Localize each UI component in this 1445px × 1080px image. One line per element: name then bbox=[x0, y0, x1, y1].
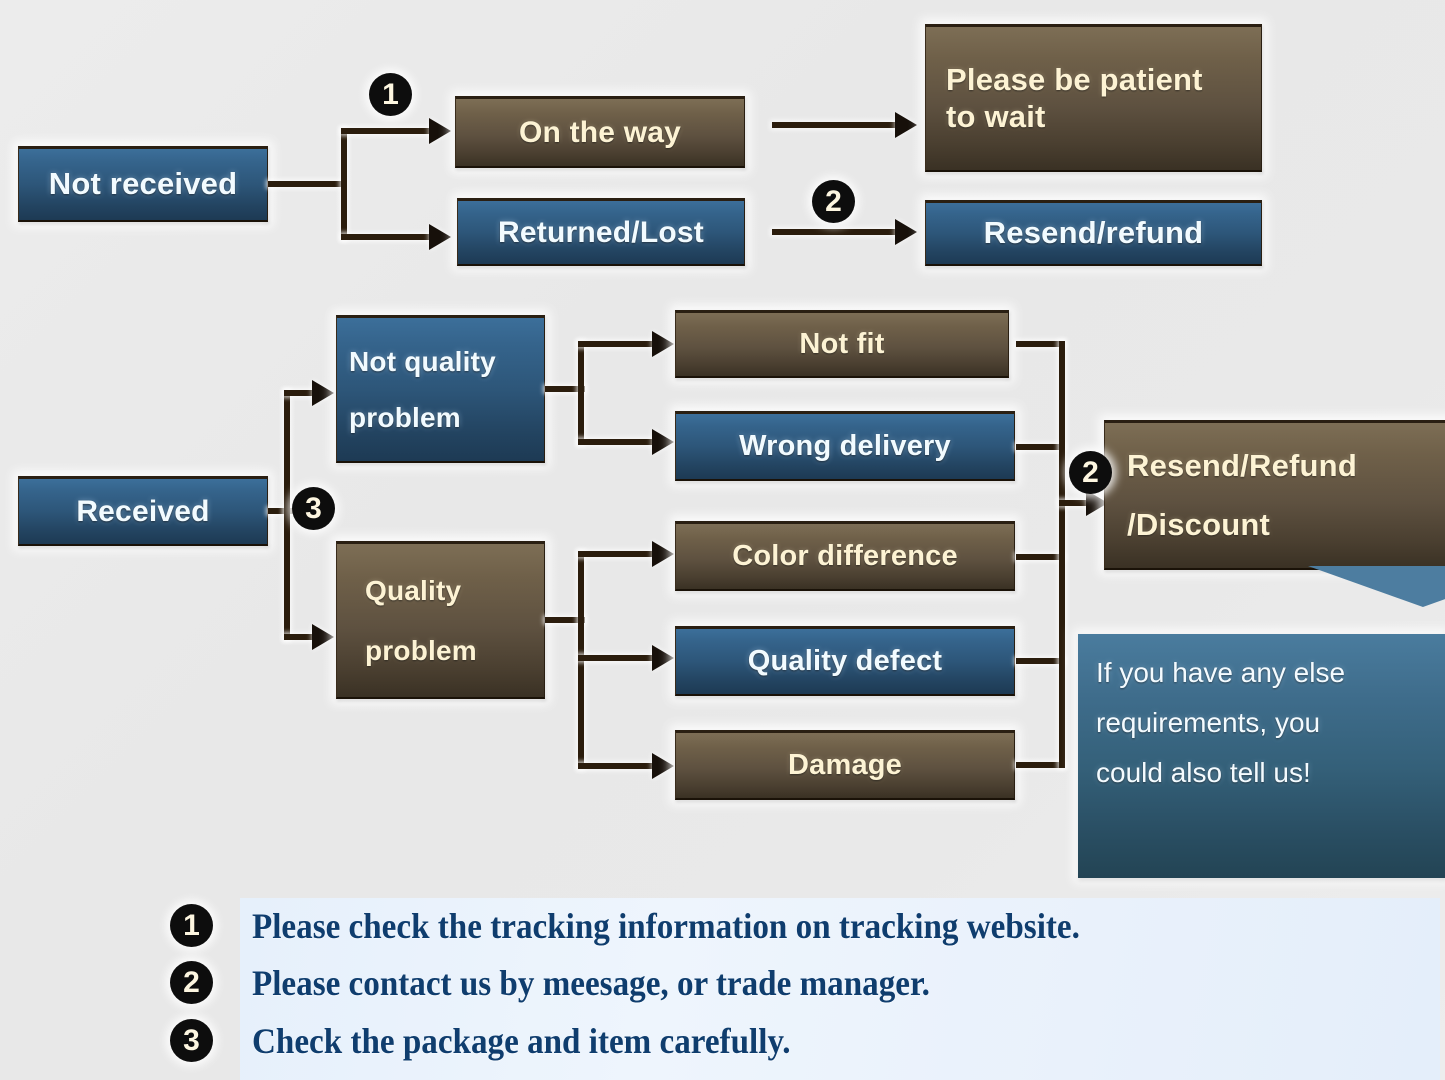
legend-badge-2-label: 2 bbox=[183, 966, 200, 1000]
connector-to-on-the-way bbox=[341, 128, 431, 134]
outcome-line-2: /Discount bbox=[1127, 507, 1445, 544]
legend-item-3: Check the package and item carefully. bbox=[252, 1018, 837, 1064]
merge-stub-wrong-delivery bbox=[1016, 444, 1064, 450]
node-on-the-way[interactable]: On the way bbox=[455, 96, 745, 168]
connector-not-received-bus bbox=[341, 128, 347, 240]
merge-bus-vertical bbox=[1059, 341, 1065, 768]
legend-item-1-text: Please check the tracking information on… bbox=[252, 905, 1080, 947]
badge-2-merge: 2 bbox=[1069, 451, 1112, 494]
badge-1-not-received-label: 1 bbox=[382, 78, 399, 112]
node-wrong-delivery-label: Wrong delivery bbox=[686, 429, 1004, 463]
legend-item-2: Please contact us by meesage, or trade m… bbox=[252, 960, 989, 1006]
node-returned-lost[interactable]: Returned/Lost bbox=[457, 198, 745, 266]
badge-2-resend-refund-label: 2 bbox=[825, 185, 842, 219]
connector-to-damage bbox=[578, 763, 656, 769]
legend-badge-3-label: 3 bbox=[183, 1024, 200, 1058]
node-not-received[interactable]: Not received bbox=[18, 146, 268, 222]
outcome-line-1: Resend/Refund bbox=[1127, 448, 1445, 485]
node-on-the-way-label: On the way bbox=[466, 115, 734, 150]
node-resend-refund[interactable]: Resend/refund bbox=[925, 200, 1262, 266]
legend-item-3-text: Check the package and item carefully. bbox=[252, 1020, 790, 1062]
arrowhead-to-returned-lost bbox=[429, 224, 451, 250]
connector-returned-to-resend bbox=[772, 229, 897, 235]
node-received[interactable]: Received bbox=[18, 476, 268, 546]
quality-line-2: problem bbox=[365, 634, 544, 667]
node-resend-refund-label: Resend/refund bbox=[936, 215, 1251, 252]
badge-3-received-label: 3 bbox=[305, 492, 322, 526]
node-please-be-patient-to-wait[interactable]: Please be patient to wait bbox=[925, 24, 1262, 172]
merge-stub-damage bbox=[1016, 762, 1064, 768]
node-quality-defect-label: Quality defect bbox=[686, 644, 1004, 678]
node-color-difference-label: Color difference bbox=[686, 539, 1004, 573]
badge-1-not-received: 1 bbox=[369, 73, 412, 116]
merge-stub-color-difference bbox=[1016, 554, 1064, 560]
arrowhead-to-quality-problem bbox=[312, 624, 334, 650]
node-not-quality-problem[interactable]: Not quality problem bbox=[336, 315, 545, 463]
node-quality-defect[interactable]: Quality defect bbox=[675, 626, 1015, 696]
legend-badge-2: 2 bbox=[170, 961, 213, 1004]
arrowhead-to-damage bbox=[652, 753, 674, 779]
node-please-be-patient-to-wait-label: Please be patient to wait bbox=[946, 62, 1261, 135]
connector-to-wrong-delivery bbox=[578, 439, 656, 445]
connector-to-quality-defect bbox=[578, 655, 656, 661]
node-damage[interactable]: Damage bbox=[675, 730, 1015, 800]
node-quality-problem[interactable]: Quality problem bbox=[336, 541, 545, 699]
node-not-fit[interactable]: Not fit bbox=[675, 310, 1009, 378]
arrowhead-to-wrong-delivery bbox=[652, 429, 674, 455]
speech-bubble-body[interactable]: If you have any else requirements, you c… bbox=[1078, 634, 1445, 878]
arrowhead-to-be-patient bbox=[895, 112, 917, 138]
node-damage-label: Damage bbox=[686, 748, 1004, 782]
legend-item-2-text: Please contact us by meesage, or trade m… bbox=[252, 962, 930, 1004]
connector-to-not-fit bbox=[578, 341, 656, 347]
arrowhead-to-not-fit bbox=[652, 331, 674, 357]
merge-stub-not-fit bbox=[1016, 341, 1064, 347]
legend-badge-3: 3 bbox=[170, 1019, 213, 1062]
connector-not-received-stem bbox=[268, 181, 344, 187]
flowchart-canvas: Not received 1 On the way Returned/Lost … bbox=[0, 0, 1445, 1080]
wait-line-1: Please be patient to wait bbox=[946, 62, 1261, 135]
bubble-line-3: could also tell us! bbox=[1096, 748, 1427, 798]
bubble-line-2: requirements, you bbox=[1096, 698, 1427, 748]
connector-to-color-difference bbox=[578, 551, 656, 557]
node-returned-lost-label: Returned/Lost bbox=[468, 215, 734, 250]
badge-3-received: 3 bbox=[292, 487, 335, 530]
node-quality-problem-label: Quality problem bbox=[365, 574, 544, 666]
arrowhead-to-quality-defect bbox=[652, 645, 674, 671]
node-resend-refund-discount-label: Resend/Refund /Discount bbox=[1127, 448, 1445, 543]
arrowhead-to-resend-refund bbox=[895, 219, 917, 245]
node-wrong-delivery[interactable]: Wrong delivery bbox=[675, 411, 1015, 481]
merge-stub-quality-defect bbox=[1016, 658, 1064, 664]
legend-badge-1-label: 1 bbox=[183, 909, 200, 943]
not-quality-line-2: problem bbox=[349, 401, 544, 434]
not-quality-line-1: Not quality bbox=[349, 345, 544, 378]
node-received-label: Received bbox=[29, 494, 257, 529]
node-color-difference[interactable]: Color difference bbox=[675, 521, 1015, 591]
legend-item-1: Please check the tracking information on… bbox=[252, 903, 1152, 949]
quality-line-1: Quality bbox=[365, 574, 544, 607]
connector-received-bus bbox=[284, 390, 290, 640]
arrowhead-to-color-difference bbox=[652, 541, 674, 567]
node-resend-refund-discount[interactable]: Resend/Refund /Discount bbox=[1104, 420, 1445, 570]
connector-to-returned-lost bbox=[341, 234, 431, 240]
connector-not-quality-bus bbox=[578, 341, 584, 445]
arrowhead-to-on-the-way bbox=[429, 118, 451, 144]
badge-2-resend-refund: 2 bbox=[812, 180, 855, 223]
connector-on-the-way-to-wait bbox=[772, 122, 897, 128]
node-not-quality-problem-label: Not quality problem bbox=[349, 345, 544, 433]
badge-2-merge-label: 2 bbox=[1082, 456, 1099, 490]
bubble-line-1: If you have any else bbox=[1096, 648, 1427, 698]
arrowhead-to-not-quality-problem bbox=[312, 380, 334, 406]
speech-bubble: If you have any else requirements, you c… bbox=[1078, 566, 1445, 878]
legend-badge-1: 1 bbox=[170, 904, 213, 947]
node-not-fit-label: Not fit bbox=[686, 327, 998, 361]
node-not-received-label: Not received bbox=[29, 166, 257, 203]
